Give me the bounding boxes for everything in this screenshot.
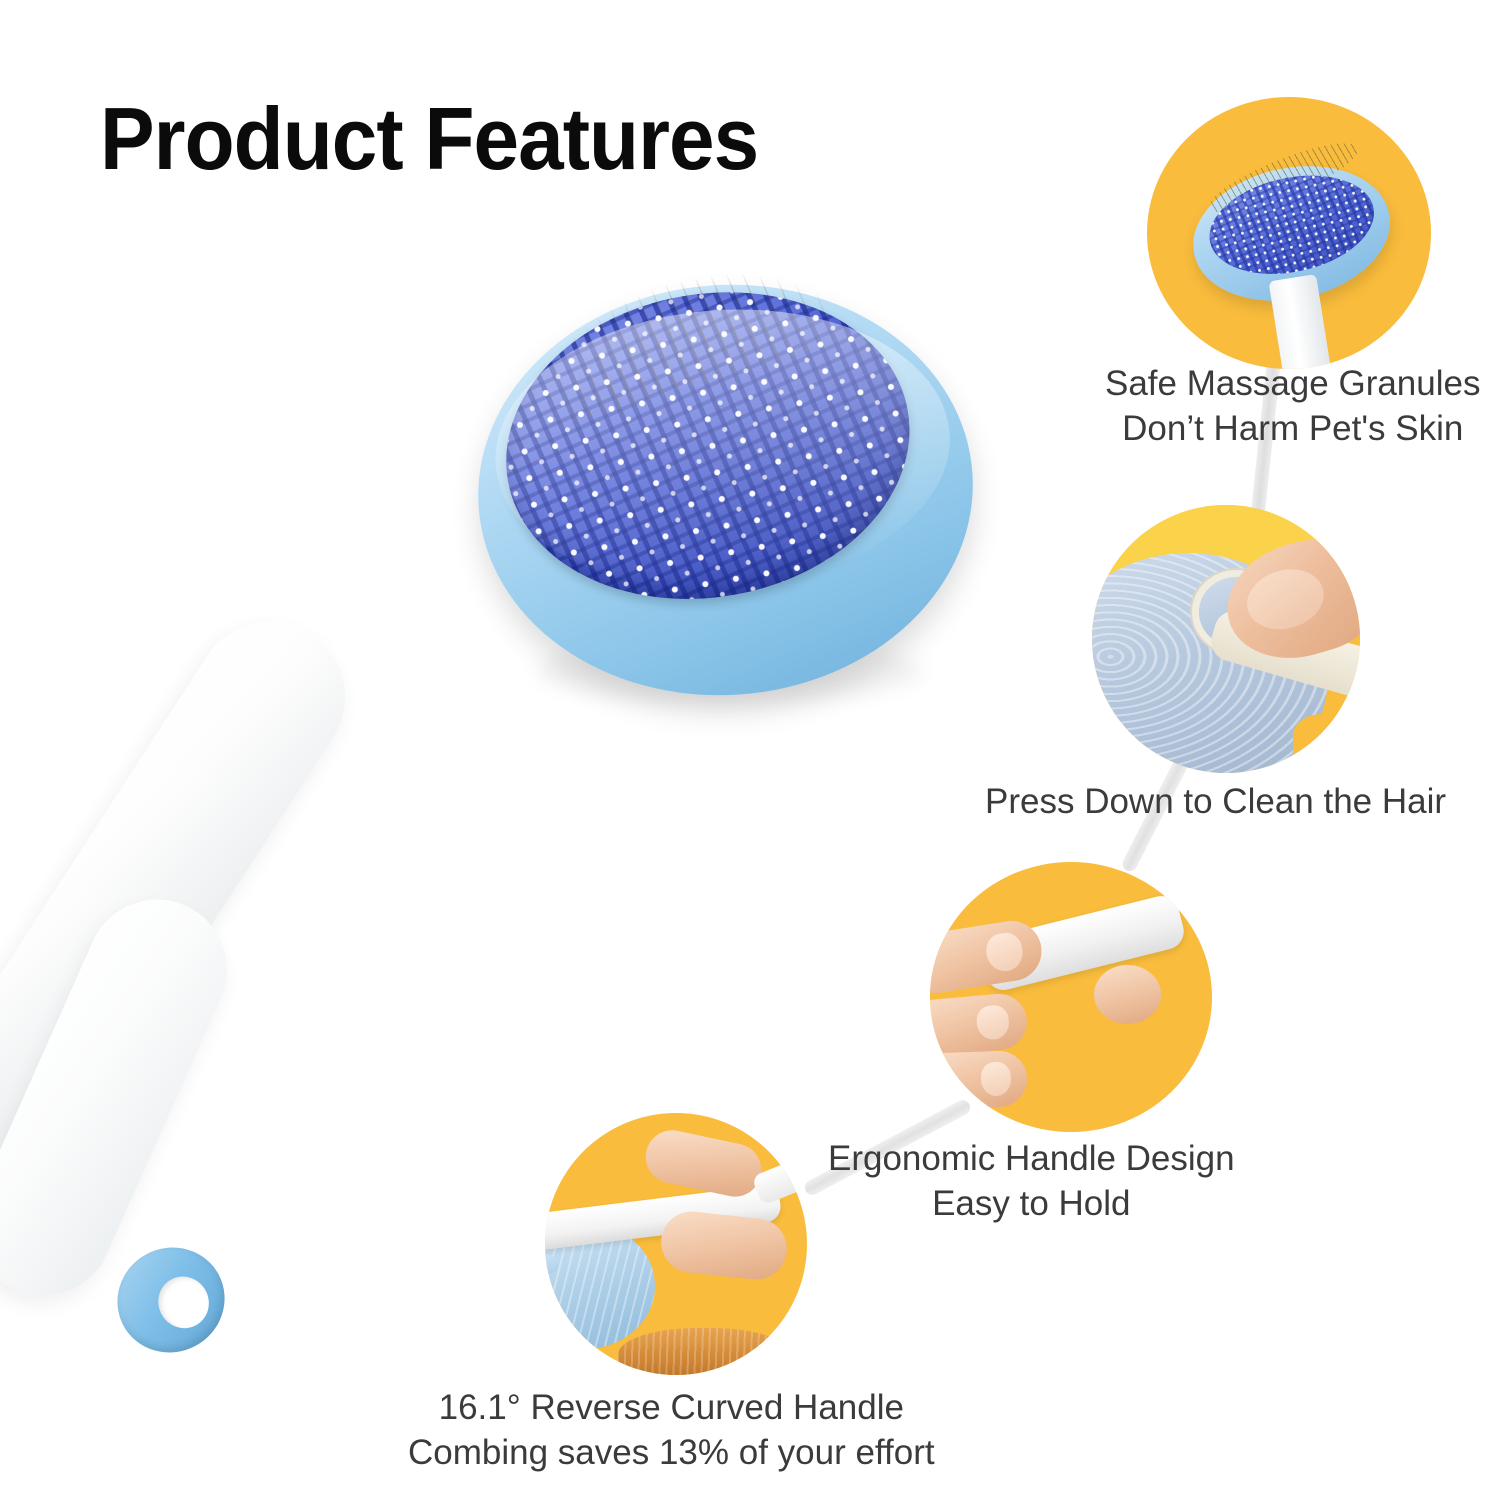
page-title: Product Features — [100, 95, 758, 183]
caption-line-2: Don’t Harm Pet's Skin — [1105, 407, 1480, 452]
feature-image-safe-massage-granules — [1147, 97, 1431, 369]
caption-line-2: Easy to Hold — [828, 1182, 1235, 1227]
caption-line-1: Ergonomic Handle Design — [828, 1137, 1235, 1182]
feature-image-press-down-to-clean — [1092, 505, 1360, 773]
caption-line-2: Combing saves 13% of your effort — [408, 1431, 935, 1476]
hang-hole-ring — [99, 1229, 243, 1372]
caption-line-1: 16.1° Reverse Curved Handle — [408, 1386, 935, 1431]
infographic-canvas: Product Features — [0, 0, 1500, 1500]
callout1-pad — [1201, 162, 1384, 289]
feature-caption-ergonomic-handle: Ergonomic Handle Design Easy to Hold — [828, 1137, 1235, 1227]
callout3-thumb-tip — [1094, 965, 1162, 1024]
caption-line-1: Safe Massage Granules — [1105, 362, 1480, 407]
brush-pins — [478, 198, 876, 441]
brush-head-pad — [481, 261, 933, 630]
callout2-yellow-corner — [1293, 714, 1352, 757]
product-brush-head — [478, 285, 973, 695]
callout2-thumbnail — [1240, 560, 1331, 638]
caption-line-1: Press Down to Clean the Hair — [985, 780, 1446, 825]
product-handle — [95, 655, 715, 1375]
brush-head-rim — [464, 268, 986, 712]
feature-caption-safe-massage-granules: Safe Massage Granules Don’t Harm Pet's S… — [1105, 362, 1480, 452]
feature-caption-press-down-to-clean: Press Down to Clean the Hair — [985, 780, 1446, 825]
feature-caption-reverse-curved-handle: 16.1° Reverse Curved Handle Combing save… — [408, 1386, 935, 1476]
callout1-granule-tips — [1201, 162, 1384, 289]
